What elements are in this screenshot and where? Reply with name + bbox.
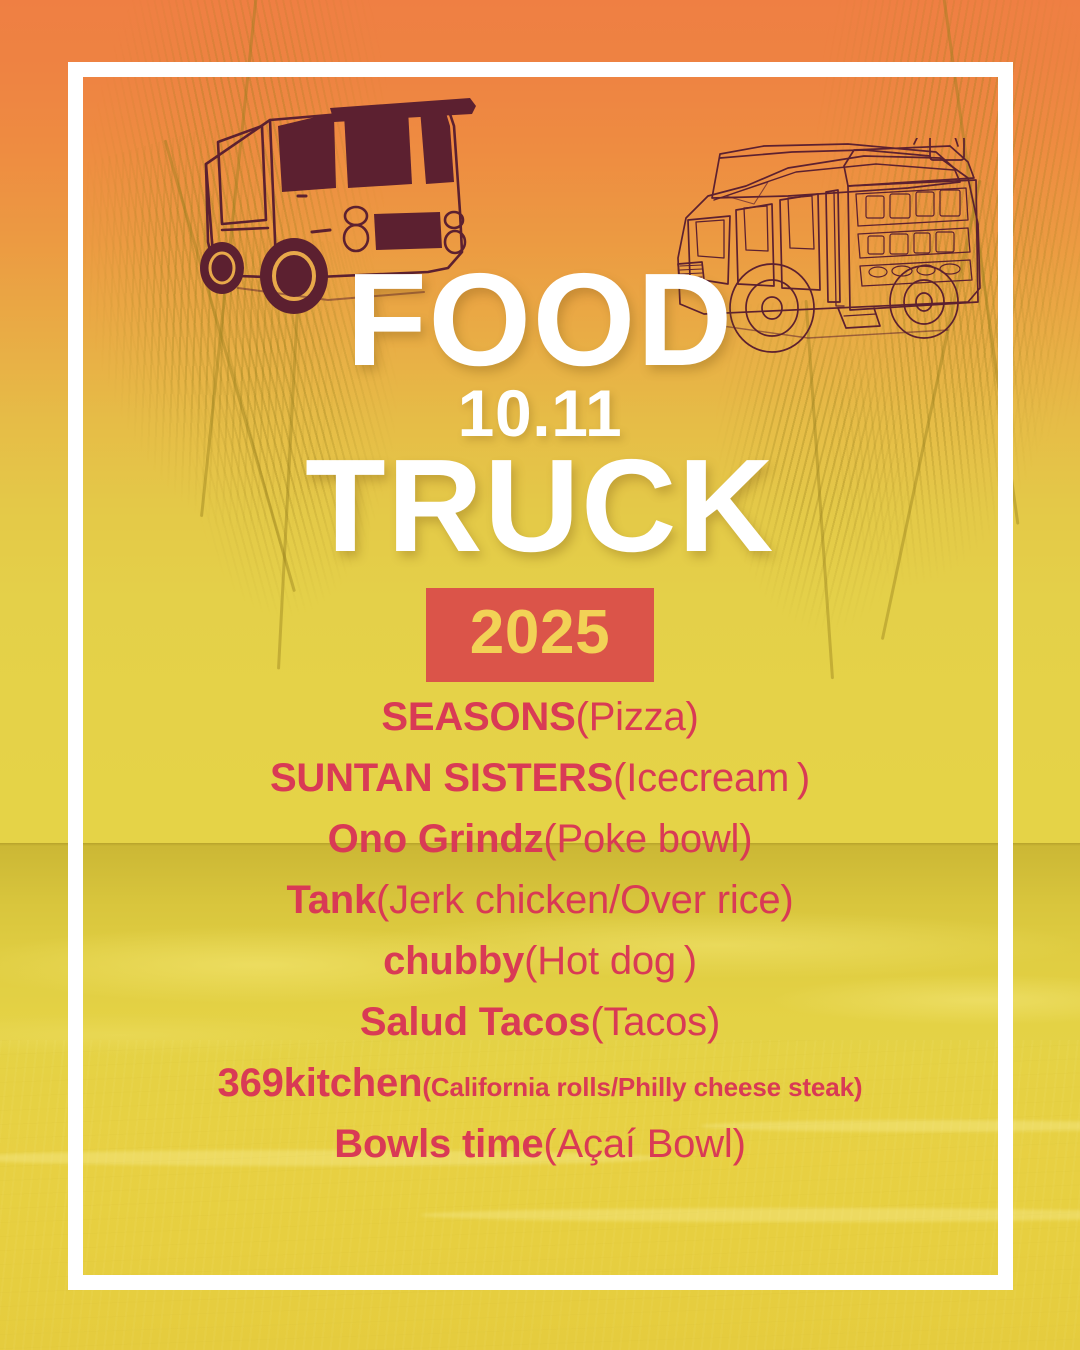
vendor-row: Salud Tacos(Tacos) <box>0 1002 1080 1042</box>
vendor-name: Bowls time <box>334 1122 543 1166</box>
title-block: FOOD 10.11 TRUCK 2025 <box>0 262 1080 682</box>
vendor-description: (Jerk chicken/Over rice) <box>376 878 794 922</box>
vendor-name: Ono Grindz <box>328 817 544 861</box>
vendor-name: 369kitchen <box>218 1061 423 1105</box>
vendor-row: chubby(Hot dog ) <box>0 941 1080 981</box>
vendor-description: (California rolls/Philly cheese steak) <box>422 1072 862 1102</box>
title-truck: TRUCK <box>0 448 1080 564</box>
title-food: FOOD <box>0 262 1080 378</box>
food-truck-event-poster: FOOD 10.11 TRUCK 2025 SEASONS(Pizza)SUNT… <box>0 0 1080 1350</box>
vendor-row: SEASONS(Pizza) <box>0 697 1080 737</box>
vendor-description: (Poke bowl) <box>543 817 752 861</box>
vendor-name: Tank <box>286 878 376 922</box>
year-badge-wrap: 2025 <box>0 588 1080 682</box>
vendor-description: (Icecream ) <box>613 756 810 800</box>
vendor-description: (Tacos) <box>590 1000 720 1044</box>
vendor-name: Salud Tacos <box>360 1000 590 1044</box>
vendor-description: (Pizza) <box>576 695 699 739</box>
vendor-name: SEASONS <box>381 695 575 739</box>
vendor-list: SEASONS(Pizza)SUNTAN SISTERS(Icecream )O… <box>0 697 1080 1185</box>
vendor-name: chubby <box>383 939 524 983</box>
vendor-row: SUNTAN SISTERS(Icecream ) <box>0 758 1080 798</box>
vendor-row: Tank(Jerk chicken/Over rice) <box>0 880 1080 920</box>
vendor-row: Bowls time(Açaí Bowl) <box>0 1124 1080 1164</box>
vendor-row: 369kitchen(California rolls/Philly chees… <box>0 1063 1080 1103</box>
vendor-description: (Hot dog ) <box>524 939 697 983</box>
vendor-name: SUNTAN SISTERS <box>270 756 613 800</box>
vendor-row: Ono Grindz(Poke bowl) <box>0 819 1080 859</box>
year-badge: 2025 <box>426 588 654 682</box>
vendor-description: (Açaí Bowl) <box>543 1122 745 1166</box>
